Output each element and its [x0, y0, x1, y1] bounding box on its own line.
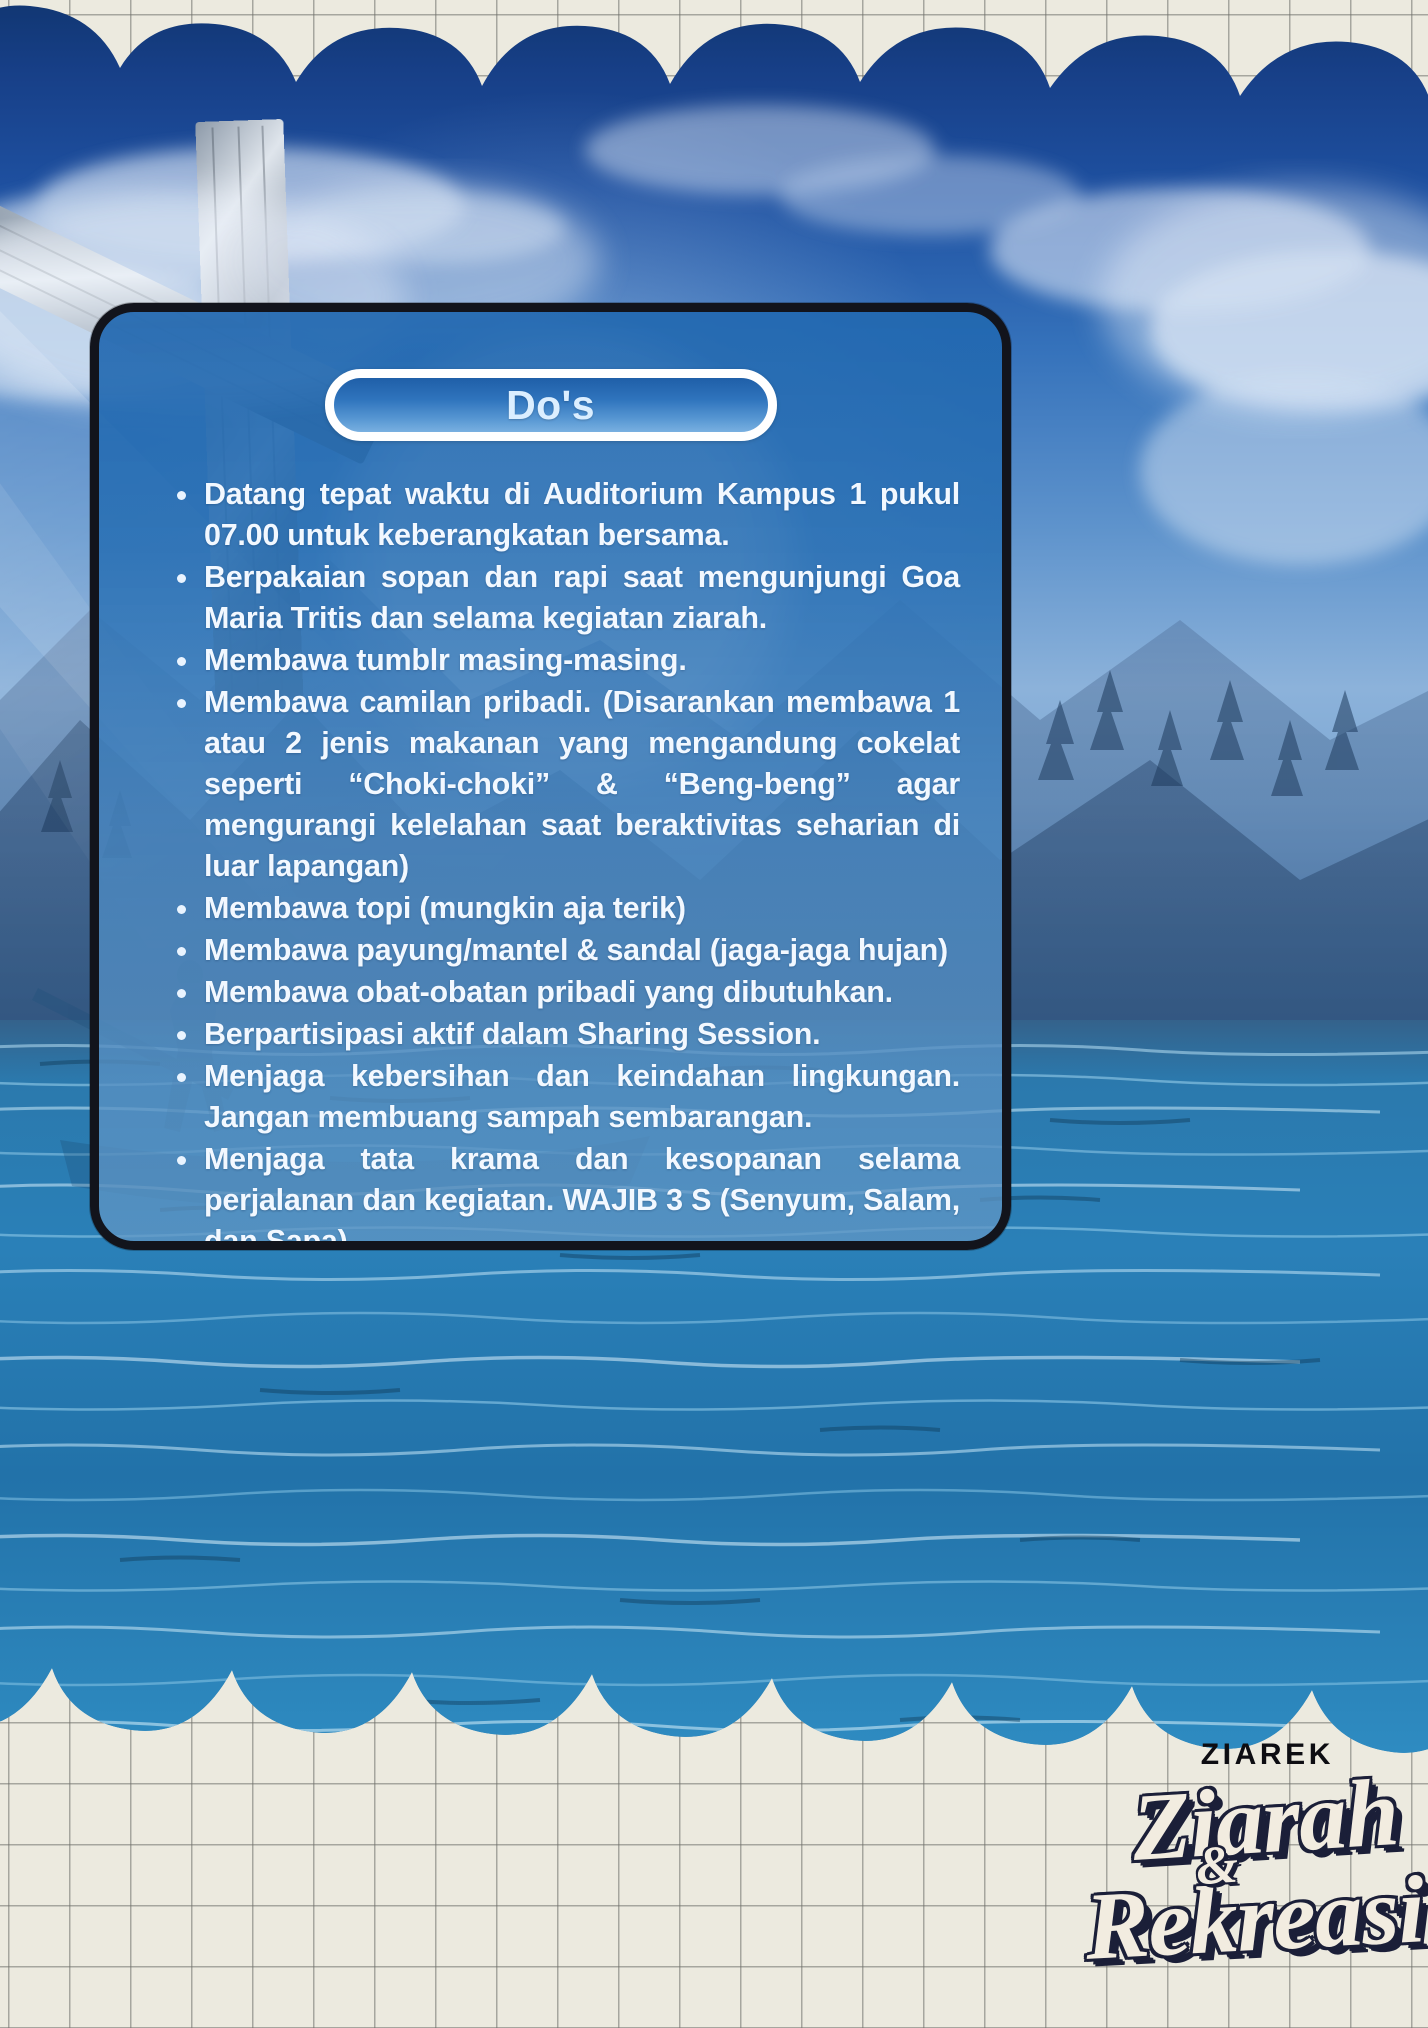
dos-list: Datang tepat waktu di Auditorium Kampus … — [171, 474, 960, 1250]
list-item: Membawa camilan pribadi. (Disarankan mem… — [171, 682, 960, 887]
list-item: Datang tepat waktu di Auditorium Kampus … — [171, 474, 960, 556]
dos-header-pill: Do's — [325, 369, 777, 441]
dos-header-label: Do's — [506, 385, 595, 426]
list-item: Membawa tumblr masing-masing. — [171, 640, 960, 681]
list-item: Berpartisipasi aktif dalam Sharing Sessi… — [171, 1014, 960, 1055]
dos-card: Do's Datang tepat waktu di Auditorium Ka… — [90, 303, 1011, 1250]
ziarek-logo: ZIAREK Ziarah & Rekreasi — [1000, 1716, 1420, 2016]
list-item: Membawa obat-obatan pribadi yang dibutuh… — [171, 972, 960, 1013]
list-item: Membawa payung/mantel & sandal (jaga-jag… — [171, 930, 960, 971]
logo-line-rekreasi: Rekreasi — [1083, 1853, 1427, 1982]
list-item: Menjaga tata krama dan kesopanan selama … — [171, 1139, 960, 1250]
logo-ampersand: & — [1194, 1833, 1240, 1898]
list-item: Berpakaian sopan dan rapi saat mengunjun… — [171, 557, 960, 639]
list-item: Menjaga kebersihan dan keindahan lingkun… — [171, 1056, 960, 1138]
poster-canvas: Do's Datang tepat waktu di Auditorium Ka… — [0, 0, 1428, 2028]
list-item: Membawa topi (mungkin aja terik) — [171, 888, 960, 929]
